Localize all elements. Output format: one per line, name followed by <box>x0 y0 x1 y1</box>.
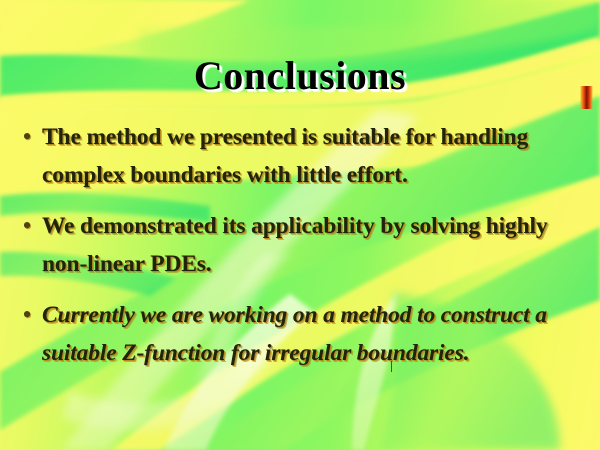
list-item: • Currently we are working on a method t… <box>12 296 594 372</box>
bullet-text-1: The method we presented is suitable for … <box>42 118 594 194</box>
bullet-dot-icon: • <box>12 118 42 156</box>
list-item: • The method we presented is suitable fo… <box>12 118 594 194</box>
slide-canvas: Conclusions • The method we presented is… <box>0 0 600 450</box>
bullet-text-2: We demonstrated its applicability by sol… <box>42 207 594 283</box>
slide-title: Conclusions <box>0 52 600 100</box>
text-caret-tick-icon <box>391 361 392 372</box>
red-tab-marker-icon <box>580 86 593 109</box>
list-item: • We demonstrated its applicability by s… <box>12 207 594 283</box>
bullet-text-3: Currently we are working on a method to … <box>42 296 594 372</box>
bullet-dot-icon: • <box>12 207 42 245</box>
bullet-dot-icon: • <box>12 296 42 334</box>
bullet-list: • The method we presented is suitable fo… <box>12 118 594 385</box>
